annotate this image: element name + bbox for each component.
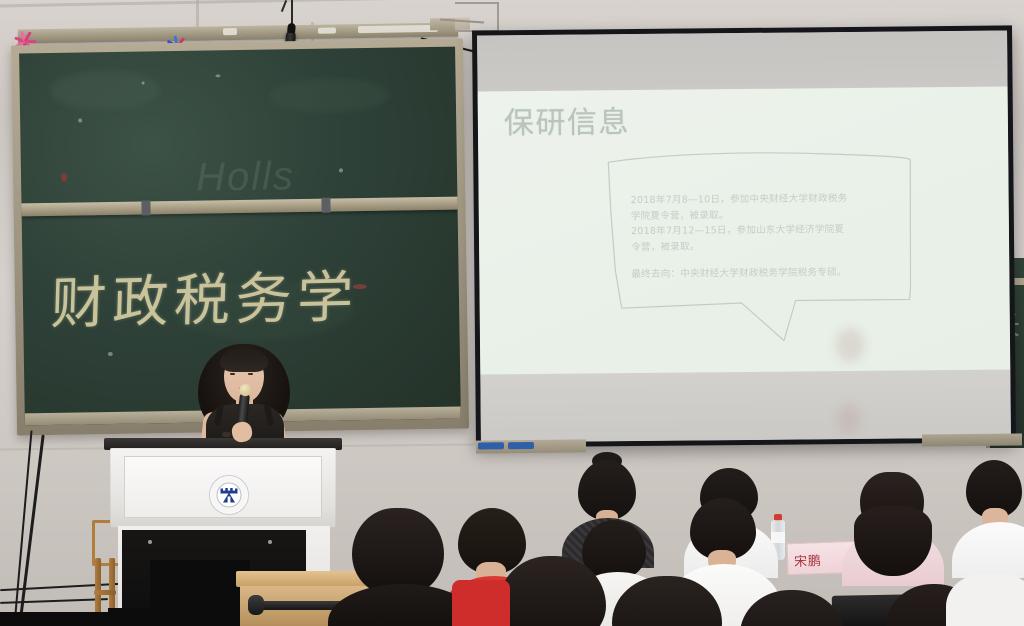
lectern-front-panel <box>110 448 336 528</box>
ledge-patch-3 <box>358 25 438 33</box>
front-shirt-right <box>946 574 1024 626</box>
front-shirt-red <box>452 580 510 626</box>
slide-bubble-text: 2018年7月8—10日，参加中央财经大学财政税务 学院夏令营，被录取。 201… <box>631 190 922 282</box>
chalk-fleck-3 <box>215 74 220 77</box>
blue-marker <box>478 442 504 449</box>
presentation-slide: 保研信息 2018年7月8—10日，参加中央财经大学财政税务 学院夏令营，被录取… <box>478 86 1011 374</box>
lectern-screw-right <box>268 540 272 544</box>
rail-clip-2 <box>321 198 330 213</box>
screen-stain <box>836 328 864 362</box>
letterbox-band-bottom <box>480 369 1011 442</box>
chalk-fleck-5 <box>108 352 113 356</box>
red-fleck <box>61 173 67 182</box>
lecture-hall-scene: Holls 财政税务学 长 保研信息 2 <box>0 0 1024 626</box>
presenter-eye-left <box>230 373 235 375</box>
ledge-patch <box>223 28 237 35</box>
bubble-conclusion: 最终去向：中央财经大学财政税务学院税务专硕。 <box>631 264 921 282</box>
blackboard-chalk-text: 财政税务学 <box>50 252 360 340</box>
head <box>498 556 606 626</box>
screen-bottom-ledge-right <box>922 433 1022 446</box>
foreground-shadow-left <box>0 612 120 626</box>
wall-bracket <box>455 2 499 32</box>
lectern-screw-left <box>148 540 152 544</box>
slide-title: 保研信息 <box>504 106 630 140</box>
presenter-eye-right <box>248 373 253 375</box>
shoulders <box>952 522 1024 578</box>
bottle-label <box>771 532 785 543</box>
audience-member-3 <box>848 472 938 582</box>
blue-marker-2 <box>508 442 534 449</box>
chalk-fleck <box>78 118 82 122</box>
chalk-fleck-4 <box>339 168 343 172</box>
presenter <box>196 342 292 452</box>
rail-clip <box>141 200 150 215</box>
presenter-bracelet <box>222 432 231 437</box>
audience-member-front-3 <box>606 576 736 626</box>
head <box>352 508 444 594</box>
bench-knob-left <box>248 595 264 615</box>
screen-stain-lower <box>837 404 861 434</box>
audience-member-front-4 <box>736 590 856 626</box>
board-smudge-2 <box>270 78 391 114</box>
audience-member-4 <box>962 460 1024 570</box>
university-crest-icon <box>209 475 249 515</box>
ledge-patch-2 <box>318 27 336 33</box>
letterbox-band-top <box>477 30 1008 91</box>
audience-member-front-1 <box>344 508 464 626</box>
projection-surface: 保研信息 2018年7月8—10日，参加中央财经大学财政税务 学院夏令营，被录取… <box>477 30 1011 442</box>
blackboard-middle-rail <box>21 197 457 217</box>
wall-seam-vertical <box>196 0 199 30</box>
blackboard-ghost-text: Holls <box>196 154 296 201</box>
name-placard-text: 宋鹏 <box>794 550 822 570</box>
presenter-fringe <box>220 348 268 372</box>
head <box>612 576 722 626</box>
chalk-fleck-2 <box>142 81 145 84</box>
board-smudge <box>49 69 160 111</box>
projection-screen: 保研信息 2018年7月8—10日，参加中央财经大学财政税务 学院夏令营，被录取… <box>472 25 1016 447</box>
head <box>740 590 844 626</box>
